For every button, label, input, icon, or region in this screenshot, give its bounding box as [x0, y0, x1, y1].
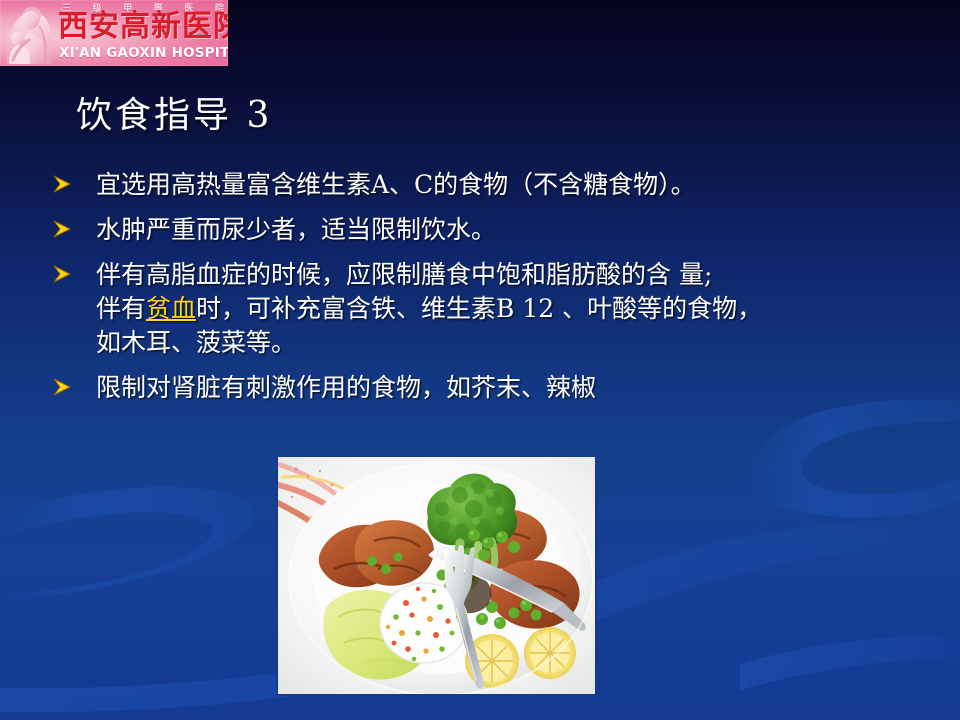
logo-hospital-name-cn: 西安高新医院: [58, 11, 226, 43]
bullet-text: 伴有高脂血症的时候，应限制膳食中饱和脂肪酸的含 量;伴有贫血时，可补充富含铁、维…: [96, 258, 932, 360]
bullet-text-line: 宜选用高热量富含维生素A、C的食物（不含糖食物）。: [96, 168, 932, 202]
highlighted-term[interactable]: 贫血: [146, 294, 196, 323]
bullet-text-line: 如木耳、菠菜等。: [96, 326, 932, 360]
bullet-item: 水肿严重而尿少者，适当限制饮水。: [52, 213, 932, 247]
bullet-list: 宜选用高热量富含维生素A、C的食物（不含糖食物）。水肿严重而尿少者，适当限制饮水…: [52, 168, 932, 416]
text-segment: 伴有: [96, 294, 146, 323]
bullet-item: 限制对肾脏有刺激作用的食物，如芥末、辣椒: [52, 371, 932, 405]
arrow-bullet-icon: [52, 168, 96, 194]
bullet-item: 宜选用高热量富含维生素A、C的食物（不含糖食物）。: [52, 168, 932, 202]
arrow-bullet-icon: [52, 258, 96, 284]
madonna-and-child-icon: [1, 2, 53, 64]
bullet-text: 宜选用高热量富含维生素A、C的食物（不含糖食物）。: [96, 168, 932, 202]
healthy-meal-photo: [276, 455, 597, 696]
bullet-text: 限制对肾脏有刺激作用的食物，如芥末、辣椒: [96, 371, 932, 405]
text-segment: 宜选用高热量富含维生素A、C的食物（不含糖食物）。: [96, 170, 696, 199]
slide-title: 饮食指导 3: [76, 86, 272, 138]
text-segment: 水肿严重而尿少者，适当限制饮水。: [96, 215, 496, 244]
bullet-text-line: 伴有高脂血症的时候，应限制膳食中饱和脂肪酸的含 量;: [96, 258, 932, 292]
bullet-text-line: 限制对肾脏有刺激作用的食物，如芥末、辣椒: [96, 371, 932, 405]
arrow-bullet-icon: [52, 213, 96, 239]
bullet-text: 水肿严重而尿少者，适当限制饮水。: [96, 213, 932, 247]
presentation-slide: 三 级 甲 等 医 院 西安高新医院 XI'AN GAOXIN HOSPITAL…: [0, 0, 960, 720]
logo-hospital-name-en: XI'AN GAOXIN HOSPITAL: [59, 45, 227, 61]
text-segment: 限制对肾脏有刺激作用的食物，如芥末、辣椒: [96, 373, 596, 402]
text-segment: 如木耳、菠菜等。: [96, 328, 296, 357]
hospital-logo: 三 级 甲 等 医 院 西安高新医院 XI'AN GAOXIN HOSPITAL: [0, 0, 228, 66]
text-segment: 时，可补充富含铁、维生素B 12 、叶酸等的食物，: [196, 294, 762, 323]
text-segment: 伴有高脂血症的时候，应限制膳食中饱和脂肪酸的含 量;: [96, 260, 712, 289]
bullet-item: 伴有高脂血症的时候，应限制膳食中饱和脂肪酸的含 量;伴有贫血时，可补充富含铁、维…: [52, 258, 932, 360]
bullet-text-line: 水肿严重而尿少者，适当限制饮水。: [96, 213, 932, 247]
bullet-text-line: 伴有贫血时，可补充富含铁、维生素B 12 、叶酸等的食物，: [96, 292, 932, 326]
arrow-bullet-icon: [52, 371, 96, 397]
